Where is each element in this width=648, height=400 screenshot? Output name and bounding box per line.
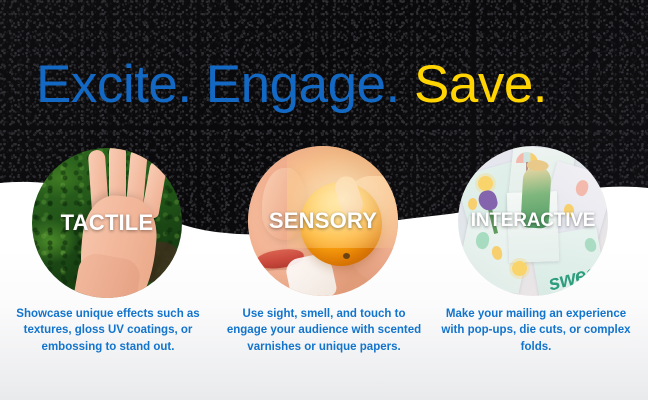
feature-circle-sensory[interactable]: SENSORY — [248, 146, 398, 296]
headline-word-engage: Engage. — [206, 55, 400, 114]
headline-word-excite: Excite. — [36, 55, 192, 114]
headline-word-save: Save. — [414, 55, 547, 114]
sun-icon-secondary — [512, 261, 527, 276]
feature-label-interactive: INTERACTIVE — [458, 210, 608, 232]
feature-caption-tactile: Showcase unique effects such as textures… — [10, 306, 206, 355]
feature-circle-tactile[interactable]: TACTILE — [32, 148, 182, 298]
marketing-poster: Excite. Engage. Save. TACTILE — [0, 0, 648, 400]
feature-circle-interactive[interactable]: sweet INTERACTIVE — [458, 146, 608, 296]
feature-label-tactile: TACTILE — [32, 210, 182, 236]
sun-icon — [478, 176, 493, 191]
feature-caption-interactive: Make your mailing an experience with pop… — [436, 306, 636, 355]
feature-caption-sensory: Use sight, smell, and touch to engage yo… — [222, 306, 426, 355]
page-title: Excite. Engage. Save. — [36, 58, 547, 111]
feature-label-sensory: SENSORY — [248, 208, 398, 234]
